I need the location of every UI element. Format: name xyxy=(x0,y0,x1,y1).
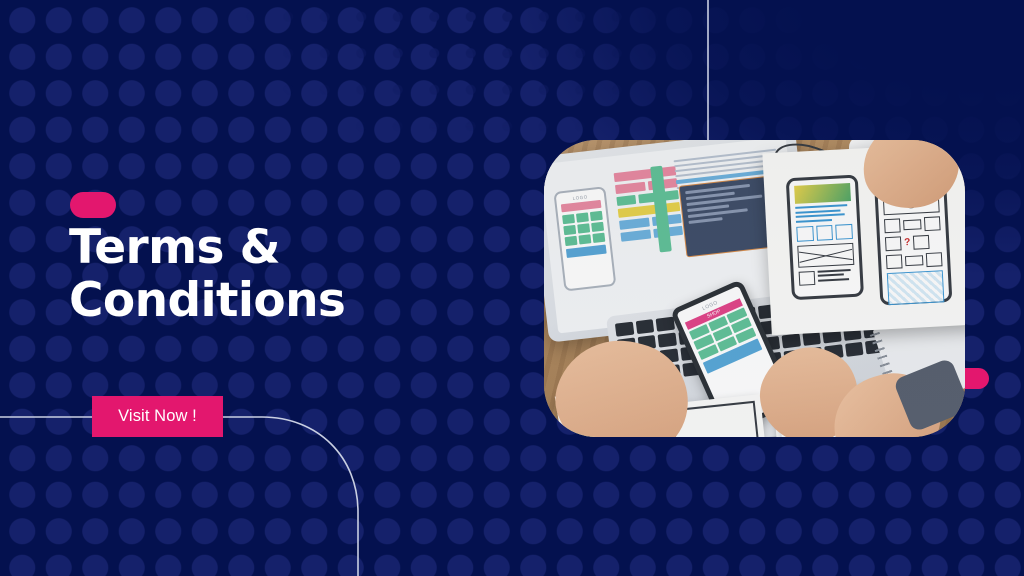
visit-now-button[interactable]: Visit Now ! xyxy=(92,396,223,437)
screen-phone-mockup: LOGO xyxy=(553,186,616,291)
hero-photo: LOGO xyxy=(544,140,965,437)
banner-canvas: Terms & Conditions Visit Now ! LOGO xyxy=(0,0,1024,576)
accent-pill-left xyxy=(70,192,116,218)
page-title: Terms & Conditions xyxy=(69,222,539,327)
question-mark-annotation: ? xyxy=(904,238,911,248)
wireframe-phone-left xyxy=(786,175,864,301)
